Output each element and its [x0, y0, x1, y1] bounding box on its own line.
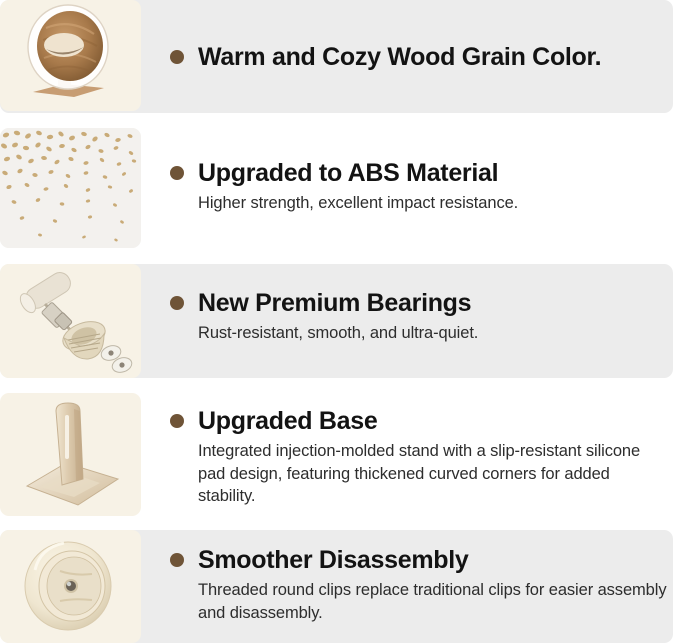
wood-grain-fan-icon: [0, 0, 141, 111]
feature-thumbnail: [0, 264, 141, 378]
feature-subtitle: Threaded round clips replace traditional…: [198, 579, 669, 624]
feature-text-block: Upgraded to ABS Material Higher strength…: [170, 158, 669, 215]
bearing-assembly-icon: [0, 264, 141, 378]
feature-title-line: Smoother Disassembly: [170, 545, 669, 575]
feature-thumbnail: [0, 530, 141, 643]
feature-text-block: New Premium Bearings Rust-resistant, smo…: [170, 288, 669, 345]
feature-list: Warm and Cozy Wood Grain Color.: [0, 0, 679, 643]
feature-subtitle: Higher strength, excellent impact resist…: [198, 192, 669, 215]
feature-title: Warm and Cozy Wood Grain Color.: [198, 42, 601, 72]
feature-text-block: Smoother Disassembly Threaded round clip…: [170, 545, 669, 624]
feature-title: Upgraded Base: [198, 406, 378, 436]
bullet-dot-icon: [170, 553, 184, 567]
feature-thumbnail: [0, 393, 141, 516]
feature-title-line: Upgraded Base: [170, 406, 669, 436]
feature-thumbnail: [0, 0, 141, 111]
bullet-dot-icon: [170, 296, 184, 310]
feature-title-line: Upgraded to ABS Material: [170, 158, 669, 188]
feature-title: New Premium Bearings: [198, 288, 471, 318]
feature-title: Smoother Disassembly: [198, 545, 469, 575]
feature-title-line: New Premium Bearings: [170, 288, 669, 318]
bullet-dot-icon: [170, 414, 184, 428]
threaded-round-clip-icon: [0, 530, 141, 643]
bullet-dot-icon: [170, 50, 184, 64]
feature-title-line: Warm and Cozy Wood Grain Color.: [170, 42, 669, 72]
feature-title: Upgraded to ABS Material: [198, 158, 498, 188]
abs-pellets-icon: [0, 128, 141, 248]
feature-text-block: Warm and Cozy Wood Grain Color.: [170, 42, 669, 72]
feature-subtitle: Rust-resistant, smooth, and ultra-quiet.: [198, 322, 669, 345]
base-stand-icon: [0, 393, 141, 516]
bullet-dot-icon: [170, 166, 184, 180]
feature-thumbnail: [0, 128, 141, 248]
feature-text-block: Upgraded Base Integrated injection-molde…: [170, 406, 669, 508]
feature-subtitle: Integrated injection-molded stand with a…: [198, 440, 669, 508]
